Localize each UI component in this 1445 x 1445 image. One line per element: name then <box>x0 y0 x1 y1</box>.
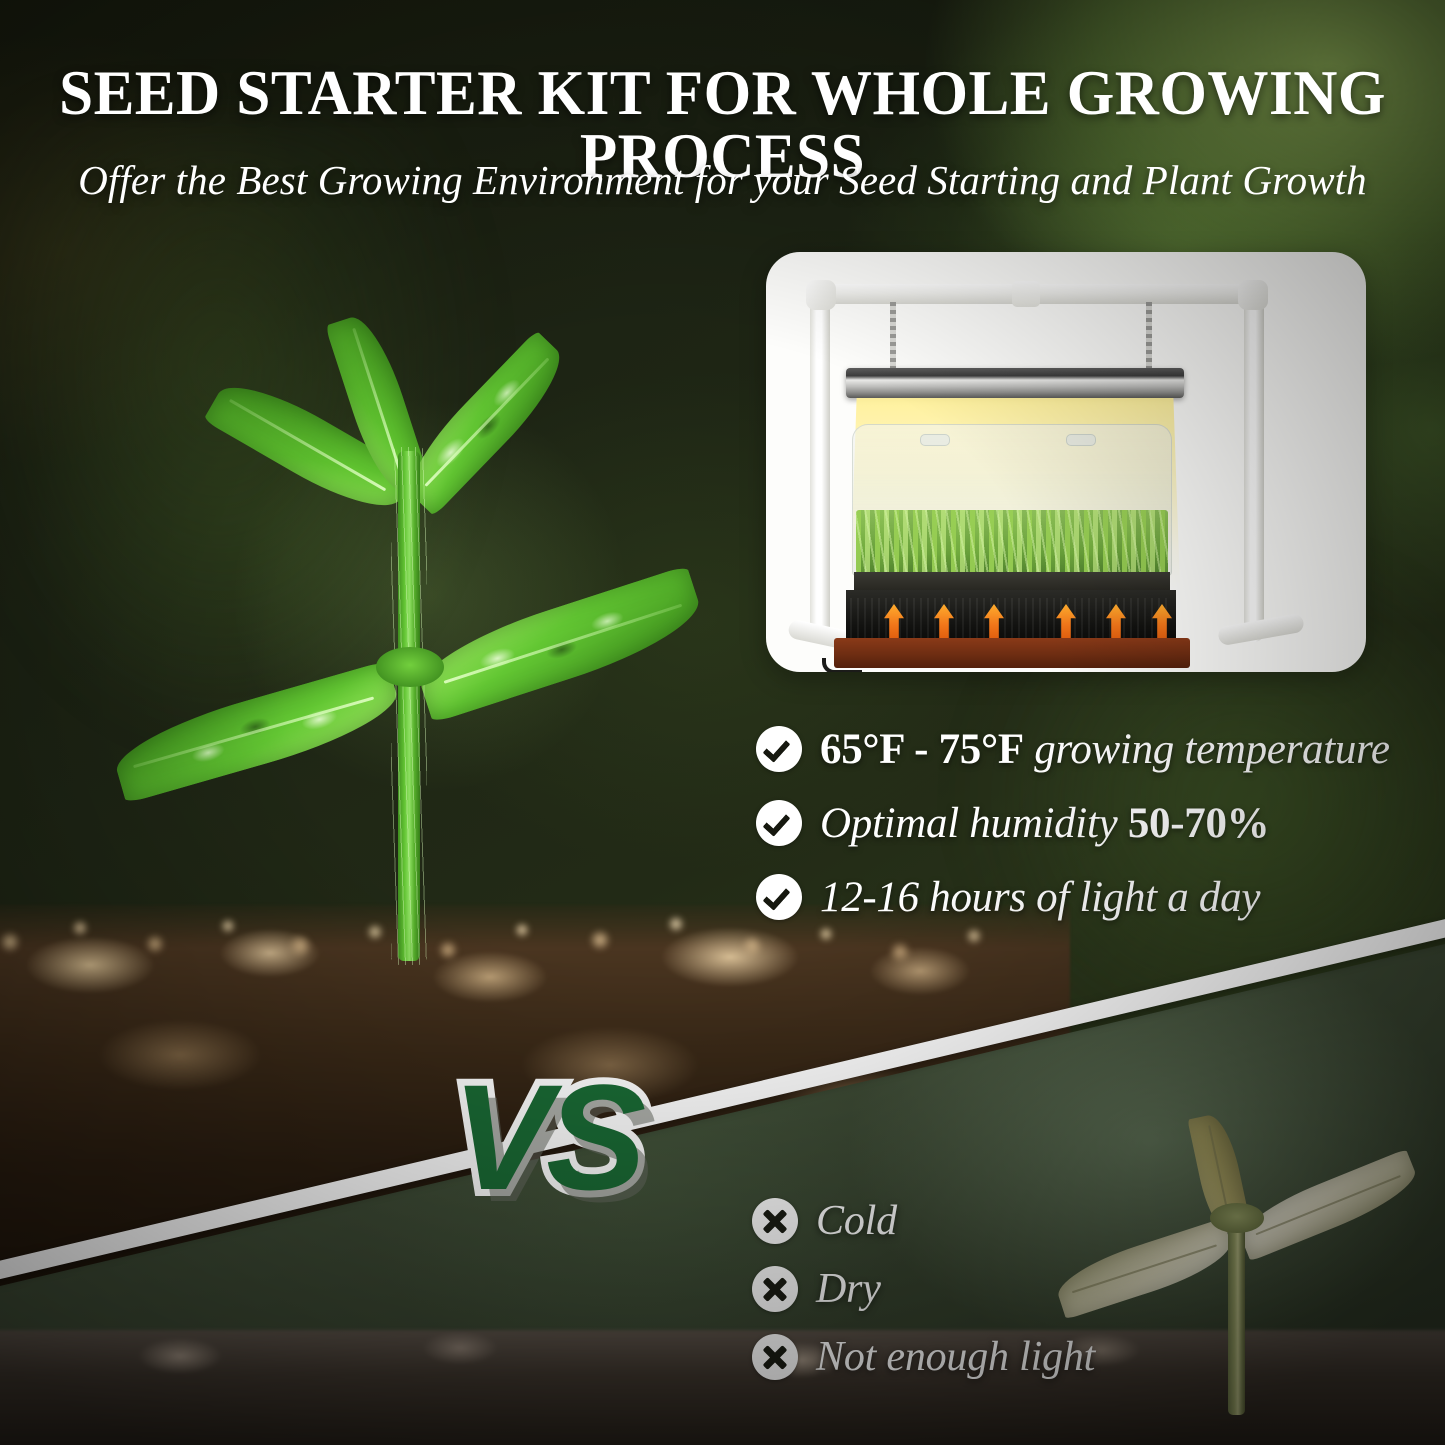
infographic-page: 65°F - 75°F growing temperature Optimal … <box>0 0 1445 1445</box>
vignette-overlay <box>0 0 1445 1445</box>
page-subtitle: Offer the Best Growing Environment for y… <box>0 156 1445 204</box>
